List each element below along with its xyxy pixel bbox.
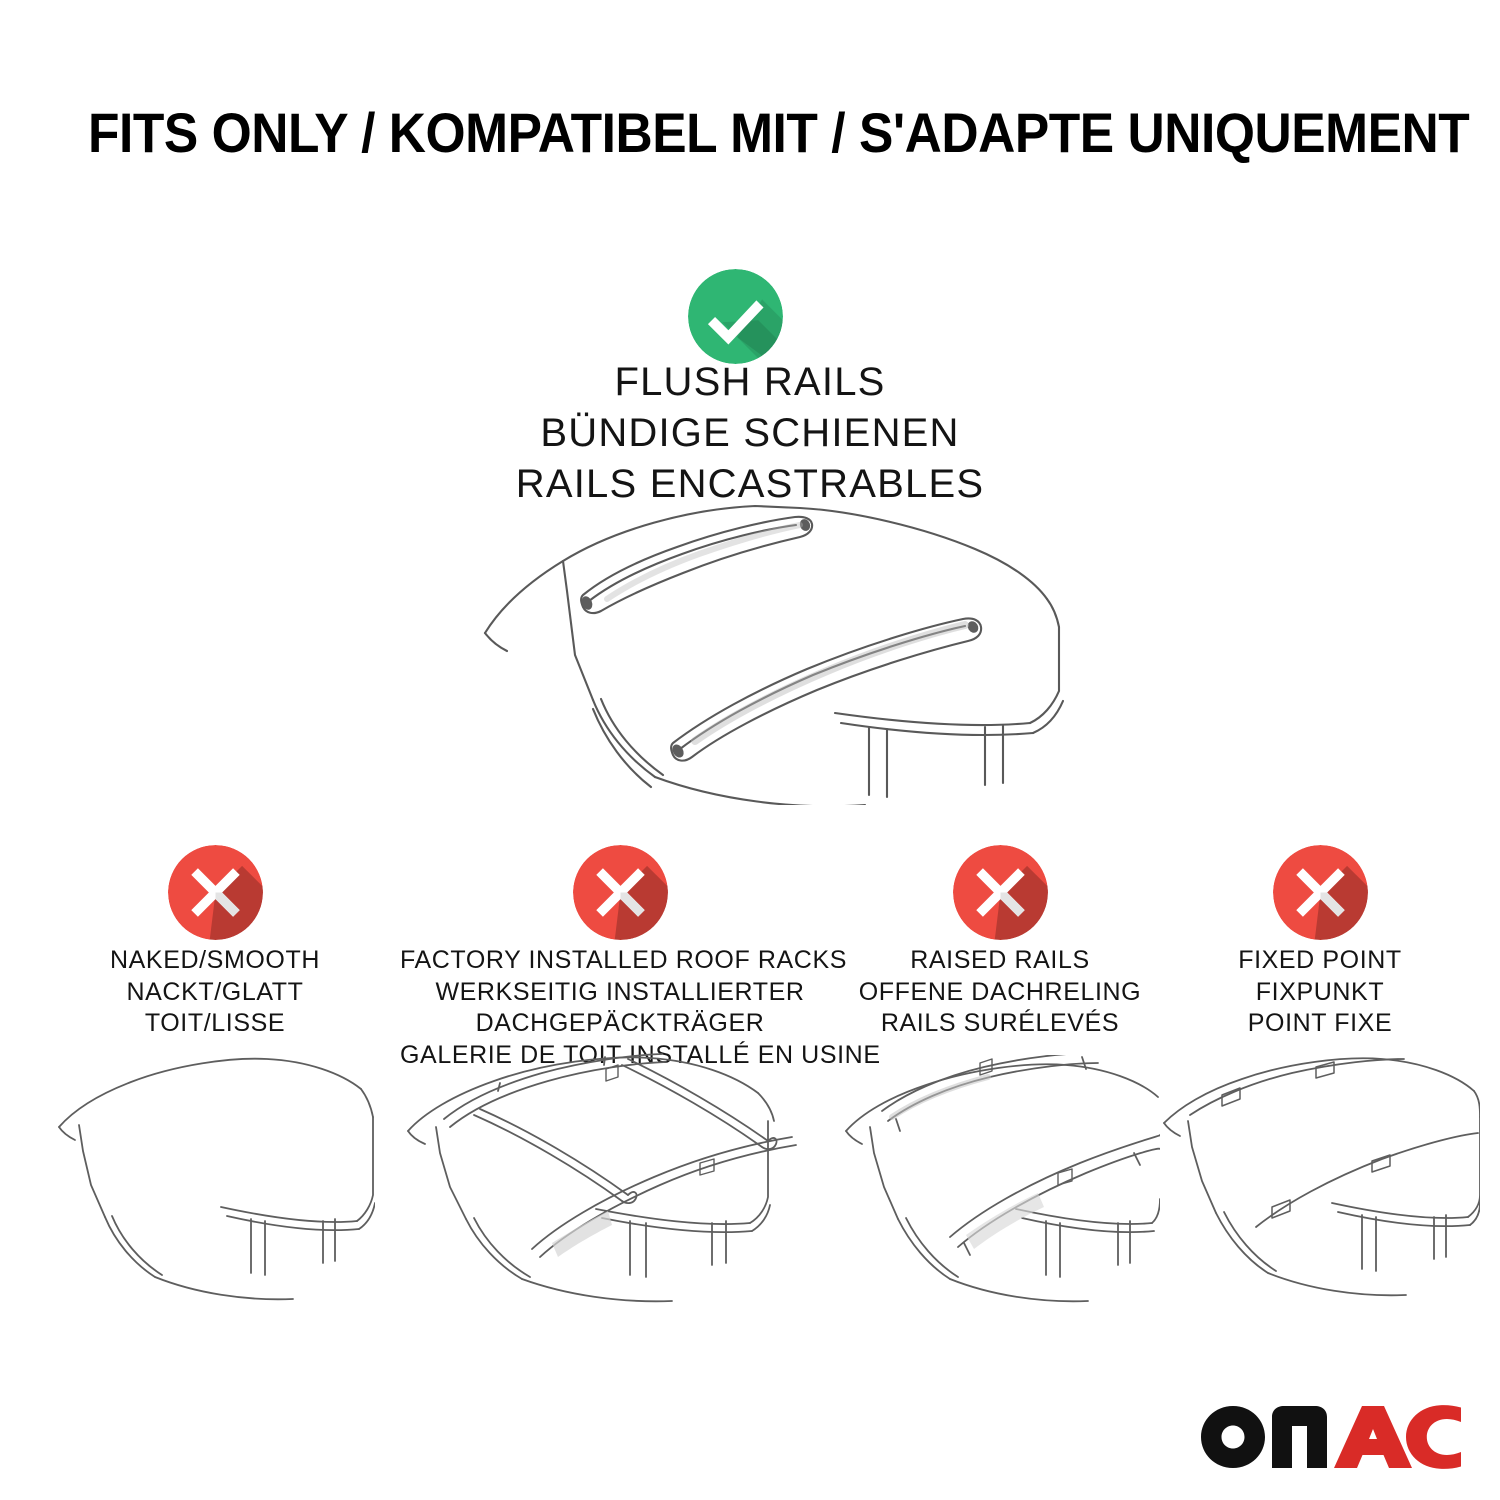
car-roof-fixed-point-illustration — [1160, 1055, 1480, 1305]
car-roof-flush-rails-illustration — [455, 495, 1065, 805]
caption-raised-rails: RAISED RAILS OFFENE DACHRELING RAILS SUR… — [840, 945, 1160, 1040]
omac-logo — [1200, 1404, 1462, 1470]
caption-naked-smooth: NAKED/SMOOTH NACKT/GLATT TOIT/LISSE — [55, 945, 375, 1040]
x-circle-icon — [953, 845, 1048, 940]
x-circle-icon — [573, 845, 668, 940]
page-title: FITS ONLY / KOMPATIBEL MIT / S'ADAPTE UN… — [88, 104, 1312, 163]
caption-fixed-point: FIXED POINT FIXPUNKT POINT FIXE — [1160, 945, 1480, 1040]
x-circle-icon — [168, 845, 263, 940]
caption-line-1: FIXPUNKT — [1160, 977, 1480, 1009]
caption-line-2: DACHGEPÄCKTRÄGER — [400, 1008, 840, 1040]
caption-line-1: OFFENE DACHRELING — [840, 977, 1160, 1009]
caption-line-0: RAISED RAILS — [840, 945, 1160, 977]
car-roof-naked-illustration — [55, 1055, 375, 1305]
car-roof-factory-racks-illustration — [400, 1053, 840, 1303]
caption-line-0: FIXED POINT — [1160, 945, 1480, 977]
caption-line-1: NACKT/GLATT — [55, 977, 375, 1009]
car-roof-raised-rails-illustration — [840, 1055, 1160, 1305]
check-circle-icon — [688, 269, 783, 364]
x-circle-icon — [1273, 845, 1368, 940]
caption-line-0: FACTORY INSTALLED ROOF RACKS — [400, 945, 840, 977]
caption-line-1: WERKSEITIG INSTALLIERTER — [400, 977, 840, 1009]
caption-line-2: TOIT/LISSE — [55, 1008, 375, 1040]
compatible-line-1: BÜNDIGE SCHIENEN — [250, 408, 1250, 459]
caption-line-0: NAKED/SMOOTH — [55, 945, 375, 977]
compatible-line-0: FLUSH RAILS — [250, 357, 1250, 408]
caption-line-2: RAILS SURÉLEVÉS — [840, 1008, 1160, 1040]
caption-line-2: POINT FIXE — [1160, 1008, 1480, 1040]
infographic-page: FITS ONLY / KOMPATIBEL MIT / S'ADAPTE UN… — [0, 0, 1500, 1500]
compatible-caption: FLUSH RAILS BÜNDIGE SCHIENEN RAILS ENCAS… — [250, 357, 1250, 511]
